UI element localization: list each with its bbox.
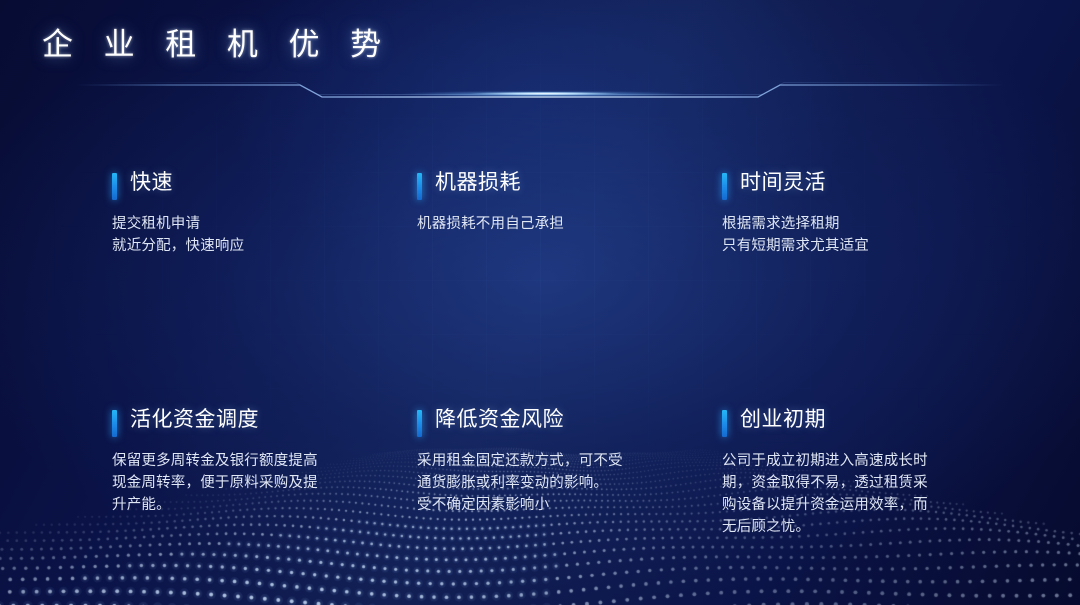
feature-body: 提交租机申请 就近分配，快速响应 [112, 213, 417, 257]
feature-line: 提交租机申请 [112, 213, 417, 235]
feature-title: 活化资金调度 [130, 405, 417, 435]
feature-body: 根据需求选择租期 只有短期需求尤其适宜 [722, 213, 992, 257]
angled-divider-line [0, 72, 1080, 112]
accent-bar-icon [417, 173, 422, 200]
feature-title: 机器损耗 [435, 168, 722, 198]
feature-line: 机器损耗不用自己承担 [417, 213, 722, 235]
slide-canvas: 企 业 租 机 优 势 [0, 0, 1080, 605]
feature-title: 创业初期 [740, 405, 992, 435]
feature-item-machine-wear: 机器损耗 机器损耗不用自己承担 [417, 168, 722, 257]
feature-title: 时间灵活 [740, 168, 992, 198]
feature-item-fast: 快速 提交租机申请 就近分配，快速响应 [112, 168, 417, 257]
dot-mesh-wave [0, 445, 1080, 605]
feature-line: 只有短期需求尤其适宜 [722, 235, 992, 257]
page-title: 企 业 租 机 优 势 [42, 22, 392, 68]
divider-glow-core [470, 92, 620, 95]
feature-line: 根据需求选择租期 [722, 213, 992, 235]
feature-line: 就近分配，快速响应 [112, 235, 417, 257]
feature-title: 降低资金风险 [435, 405, 722, 435]
feature-item-flexible-time: 时间灵活 根据需求选择租期 只有短期需求尤其适宜 [722, 168, 992, 257]
accent-bar-icon [112, 173, 117, 200]
accent-bar-icon [722, 173, 727, 200]
accent-bar-icon [417, 410, 422, 437]
accent-bar-icon [112, 410, 117, 437]
accent-bar-icon [722, 410, 727, 437]
feature-body: 机器损耗不用自己承担 [417, 213, 722, 235]
feature-title: 快速 [130, 168, 417, 198]
